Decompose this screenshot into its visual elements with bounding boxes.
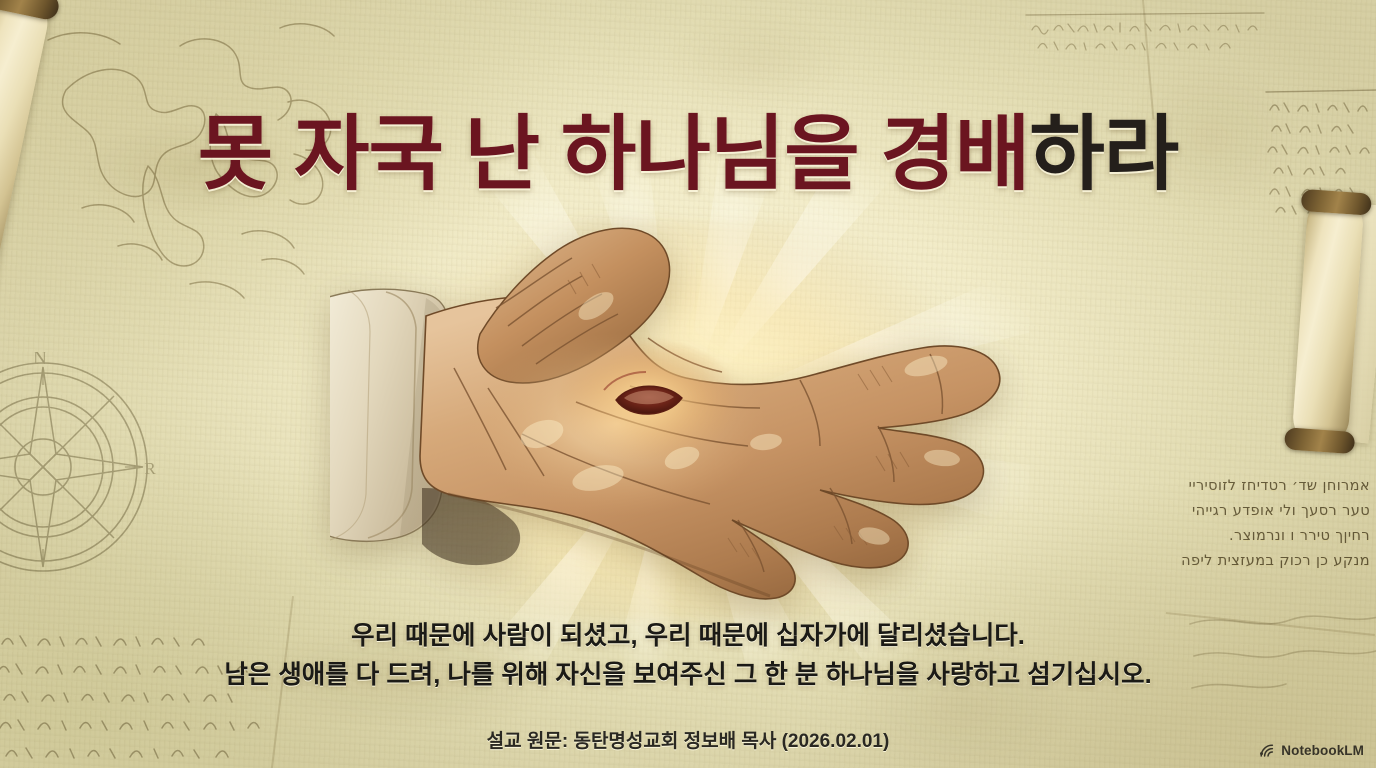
subtitle-line-1: 우리 때문에 사람이 되셨고, 우리 때문에 십자가에 달리셨습니다. [0, 617, 1376, 656]
nail-wound [556, 338, 740, 462]
hebrew-line: טער רסעך ולי אופדע רגייהי [1148, 499, 1370, 524]
notebooklm-logo-icon [1259, 743, 1276, 758]
subtitle-line-2: 남은 생애를 다 드려, 나를 위해 자신을 보여주신 그 한 분 하나님을 사… [0, 656, 1376, 695]
compass-label-north: N [33, 352, 47, 369]
title-segment-red: 못 자국 난 하나님을 경배 [198, 109, 1030, 200]
notebooklm-label: NotebookLM [1281, 743, 1364, 758]
compass-rose-icon: N R [0, 352, 158, 582]
compass-label-east: R [144, 459, 156, 478]
page-title: 못 자국 난 하나님을 경배하라 [0, 111, 1376, 200]
hebrew-text-block: אמרוחן שד׳ רטדיחז לזוסיריי טער רסעך ולי … [1148, 474, 1370, 574]
subtitle-block: 우리 때문에 사람이 되셨고, 우리 때문에 십자가에 달리셨습니다. 남은 생… [0, 617, 1376, 695]
title-segment-dark: 하라 [1029, 109, 1178, 200]
pierced-hand-illustration [330, 188, 1020, 618]
hebrew-line: מנקע כן רכוק במעזצית ליפה [1148, 549, 1370, 574]
hebrew-line: אמרוחן שד׳ רטדיחז לזוסיריי [1148, 474, 1370, 499]
sermon-credit: 설교 원문: 동탄명성교회 정보배 목사 (2026.02.01) [0, 726, 1376, 753]
notebooklm-logo-dot [1260, 752, 1263, 755]
hebrew-line: רחיןך טירר ו ונרמוצר. [1148, 524, 1370, 549]
sermon-slide: N R [0, 0, 1376, 768]
manuscript-writing-icon [1020, 4, 1270, 62]
notebooklm-watermark: NotebookLM [1259, 743, 1364, 758]
